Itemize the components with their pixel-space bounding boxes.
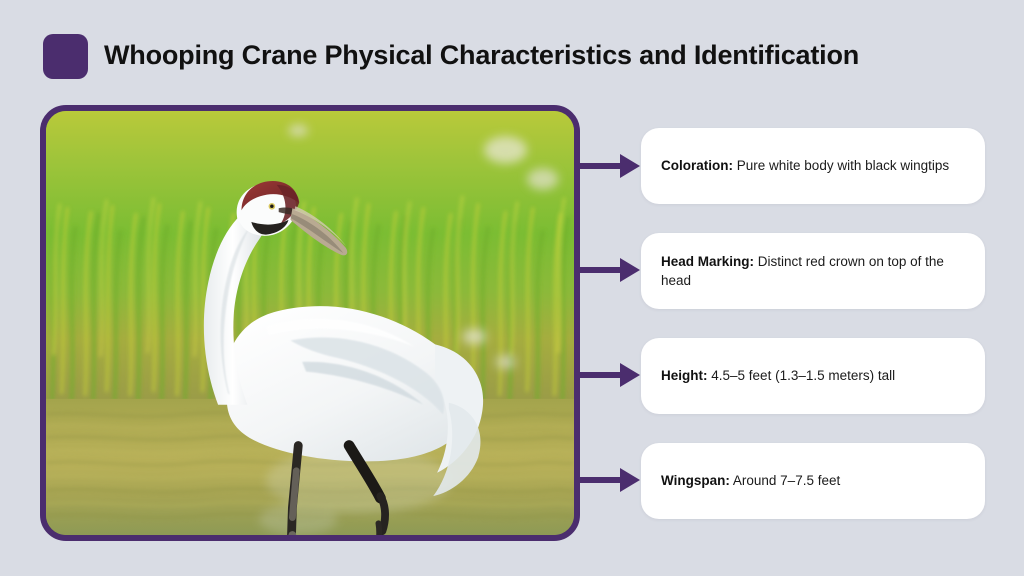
fact-card-wingspan[interactable]: Wingspan: Around 7–7.5 feet <box>641 443 985 519</box>
fact-text: Coloration: Pure white body with black w… <box>661 156 949 175</box>
fact-card-coloration[interactable]: Coloration: Pure white body with black w… <box>641 128 985 204</box>
connector-arrowhead <box>620 258 640 282</box>
fact-label: Wingspan: <box>661 473 730 488</box>
fact-label: Head Marking: <box>661 254 754 269</box>
fact-card-height[interactable]: Height: 4.5–5 feet (1.3–1.5 meters) tall <box>641 338 985 414</box>
fact-label: Height: <box>661 368 708 383</box>
fact-value: 4.5–5 feet (1.3–1.5 meters) tall <box>711 368 895 383</box>
connector-arrow-height <box>578 363 640 387</box>
connector-arrow-wingspan <box>578 468 640 492</box>
page-title: Whooping Crane Physical Characteristics … <box>104 40 984 71</box>
title-accent-square <box>43 34 88 79</box>
fact-card-head-marking[interactable]: Head Marking: Distinct red crown on top … <box>641 233 985 309</box>
fact-text: Wingspan: Around 7–7.5 feet <box>661 471 840 490</box>
connector-arrow-coloration <box>578 154 640 178</box>
connector-shaft <box>578 477 622 483</box>
connector-arrowhead <box>620 363 640 387</box>
fact-label: Coloration: <box>661 158 733 173</box>
connector-arrowhead <box>620 154 640 178</box>
fact-text: Height: 4.5–5 feet (1.3–1.5 meters) tall <box>661 366 895 385</box>
header: Whooping Crane Physical Characteristics … <box>0 0 1024 100</box>
fact-value: Around 7–7.5 feet <box>733 473 840 488</box>
connector-shaft <box>578 267 622 273</box>
connector-arrow-head-marking <box>578 258 640 282</box>
crane-photo-frame <box>40 105 580 541</box>
connector-shaft <box>578 372 622 378</box>
crane-photo <box>46 111 574 535</box>
fact-text: Head Marking: Distinct red crown on top … <box>661 252 965 290</box>
connector-arrowhead <box>620 468 640 492</box>
fact-value: Pure white body with black wingtips <box>737 158 949 173</box>
connector-shaft <box>578 163 622 169</box>
